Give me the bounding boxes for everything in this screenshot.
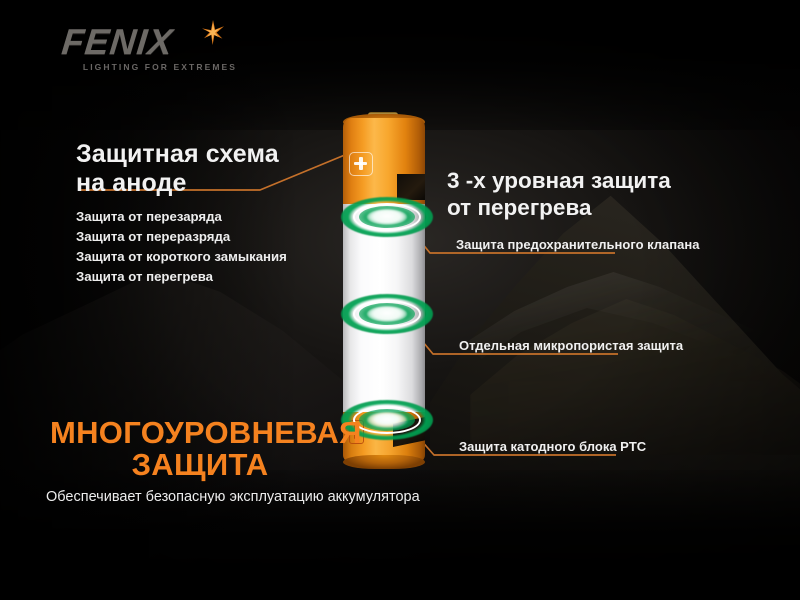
footer-headline-line1: МНОГОУРОВНЕВАЯ bbox=[50, 417, 350, 449]
protection-feature-list: Защита от перезаряда Защита от переразря… bbox=[76, 207, 376, 287]
right-heading-line1: 3 -х уровная защита bbox=[447, 168, 747, 195]
logo-tagline: LIGHTING FOR EXTREMES bbox=[62, 62, 258, 72]
fenix-logo: FENIX LIGHTING FOR EXTREMES bbox=[62, 24, 262, 72]
list-item: Защита от переразряда bbox=[76, 227, 376, 247]
battery-bottom-arc bbox=[343, 455, 425, 469]
left-heading: Защитная схема на аноде bbox=[76, 140, 346, 198]
infographic-canvas: FENIX LIGHTING FOR EXTREMES bbox=[0, 0, 800, 600]
callout-label-safety-valve: Защита предохранительного клапана bbox=[456, 237, 699, 252]
logo-wordmark: FENIX bbox=[60, 24, 264, 60]
right-heading: 3 -х уровная защита от перегрева bbox=[447, 168, 747, 221]
left-heading-line1: Защитная схема bbox=[76, 140, 346, 169]
list-item: Защита от перезаряда bbox=[76, 207, 376, 227]
footer-subline: Обеспечивает безопасную эксплуатацию акк… bbox=[46, 489, 420, 505]
right-heading-line2: от перегрева bbox=[447, 195, 747, 222]
footer-headline-line2: ЗАЩИТА bbox=[50, 449, 350, 481]
callout-label-microporous: Отдельная микропористая защита bbox=[459, 338, 683, 353]
left-shade-overlay bbox=[0, 0, 300, 600]
list-item: Защита от короткого замыкания bbox=[76, 247, 376, 267]
callout-label-ptc: Защита катодного блока PTC bbox=[459, 439, 646, 454]
protection-ring-microporous bbox=[341, 294, 433, 334]
footer-headline: МНОГОУРОВНЕВАЯ ЗАЩИТА bbox=[50, 417, 350, 481]
left-heading-line2: на аноде bbox=[76, 169, 346, 198]
list-item: Защита от перегрева bbox=[76, 267, 376, 287]
battery-plus-marker bbox=[349, 152, 373, 176]
